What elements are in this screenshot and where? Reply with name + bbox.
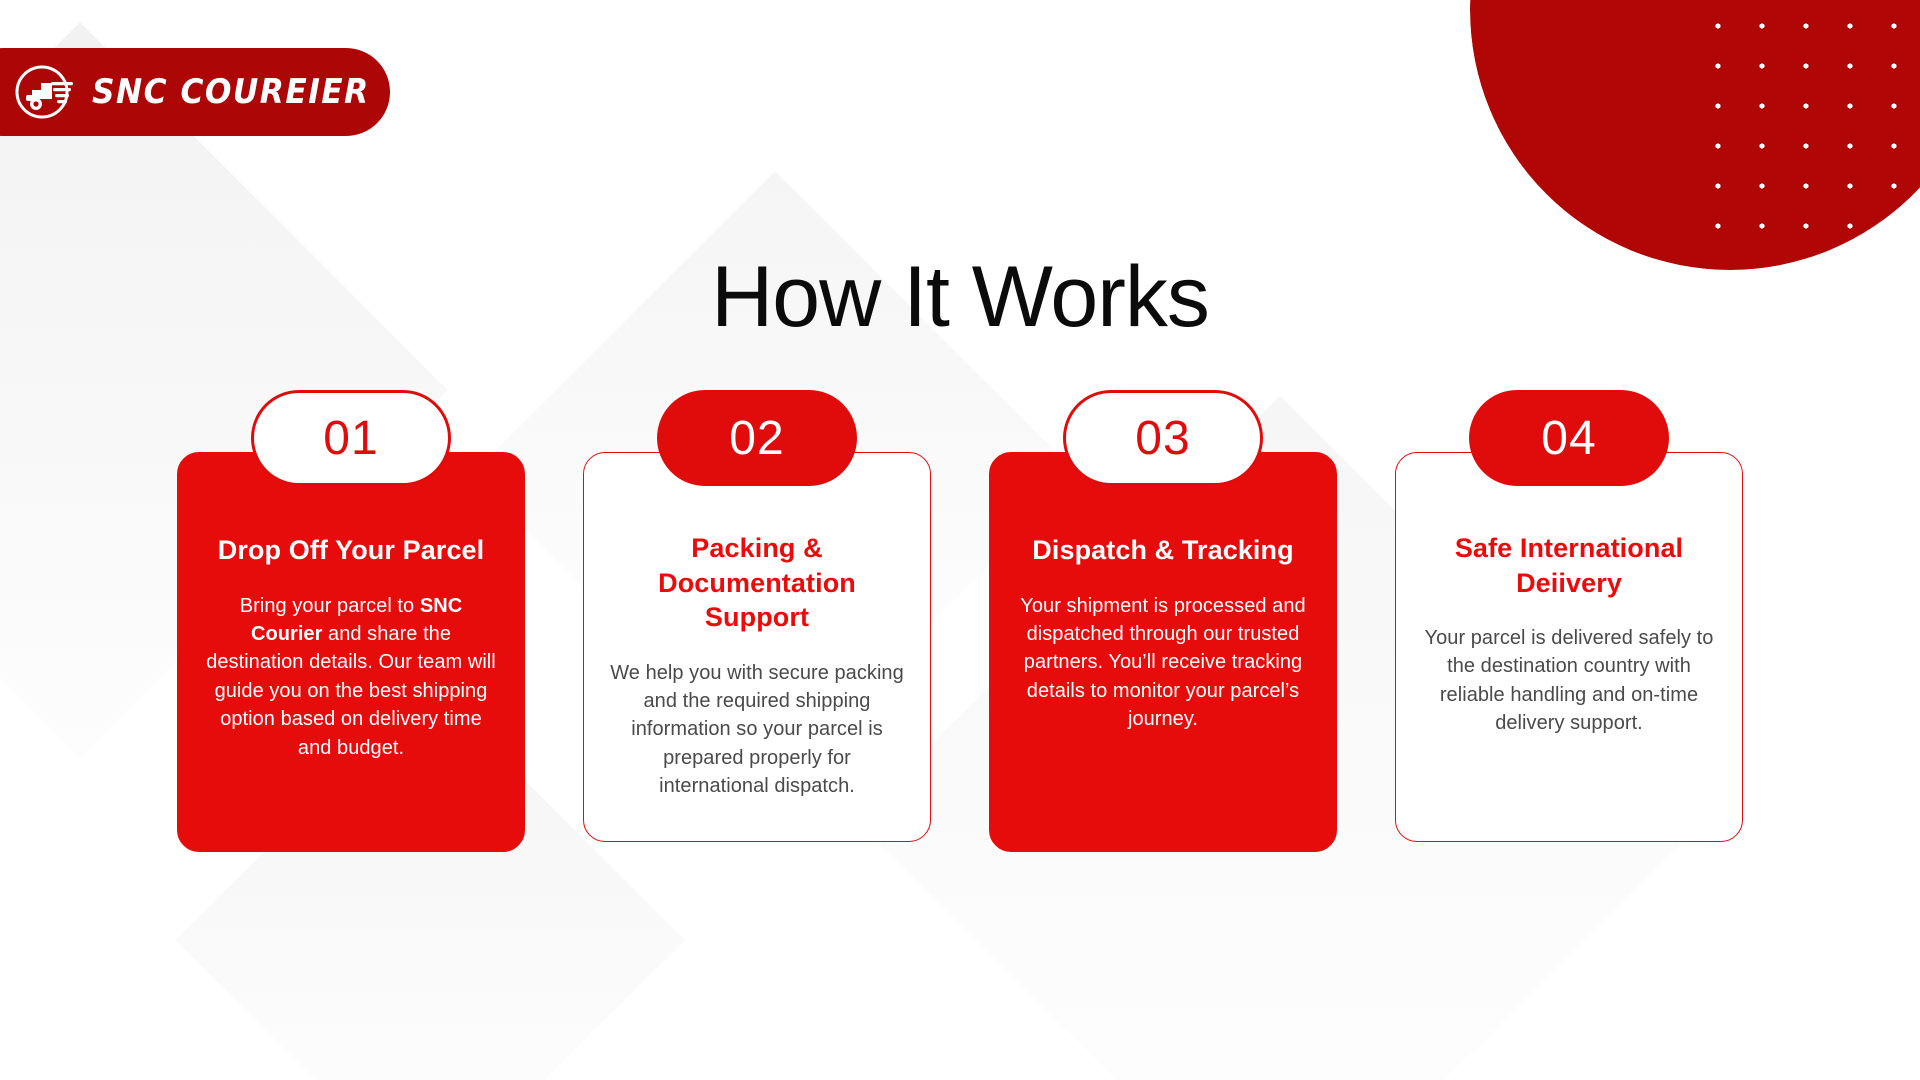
step-description: Bring your parcel to SNC Courier and sha… [206, 592, 496, 762]
delivery-truck-icon [12, 59, 78, 125]
step-title: Packing & Documentation Support [610, 531, 904, 635]
step-card-body: Packing & Documentation SupportWe help y… [583, 452, 931, 842]
step-number-badge: 02 [657, 390, 857, 486]
corner-circle-decoration [1470, 0, 1920, 270]
step-title: Safe International Deiivery [1422, 531, 1716, 600]
steps-container: Drop Off Your ParcelBring your parcel to… [0, 390, 1920, 852]
step-card-body: Dispatch & TrackingYour shipment is proc… [989, 452, 1337, 852]
brand-logo-bar[interactable]: SNC COUREIER [0, 48, 390, 136]
page-title: How It Works [0, 254, 1920, 340]
brand-logo-text: SNC COUREIER [92, 72, 370, 112]
step-description: We help you with secure packing and the … [610, 659, 904, 801]
step-description: Your parcel is delivered safely to the d… [1422, 624, 1716, 738]
step-number-badge: 01 [251, 390, 451, 486]
step-card-body: Drop Off Your ParcelBring your parcel to… [177, 452, 525, 852]
step-card-03[interactable]: Dispatch & TrackingYour shipment is proc… [989, 390, 1337, 852]
step-card-body: Safe International DeiiveryYour parcel i… [1395, 452, 1743, 842]
step-number-badge: 04 [1469, 390, 1669, 486]
step-card-01[interactable]: Drop Off Your ParcelBring your parcel to… [177, 390, 525, 852]
step-number-badge: 03 [1063, 390, 1263, 486]
step-description-emphasis: SNC Courier [251, 595, 462, 645]
step-title: Dispatch & Tracking [1018, 533, 1308, 568]
dot-grid-pattern-icon [1690, 0, 1920, 240]
step-title: Drop Off Your Parcel [206, 533, 496, 568]
step-description: Your shipment is processed and dispatche… [1018, 592, 1308, 734]
step-card-02[interactable]: Packing & Documentation SupportWe help y… [583, 390, 931, 842]
step-card-04[interactable]: Safe International DeiiveryYour parcel i… [1395, 390, 1743, 842]
